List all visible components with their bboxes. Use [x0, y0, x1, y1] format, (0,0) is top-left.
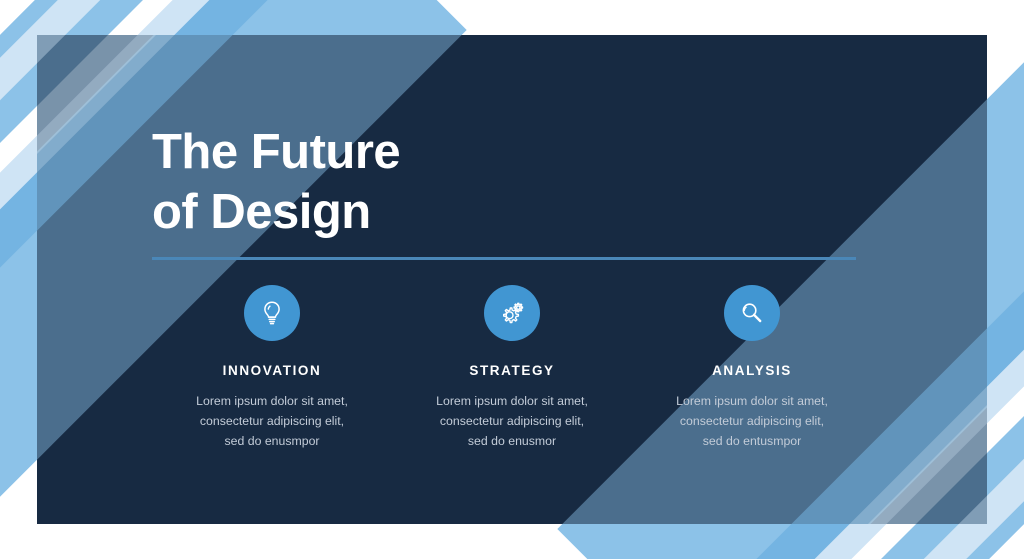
feature-column-analysis[interactable]: ANALYSIS Lorem ipsum dolor sit amet, con… — [632, 285, 872, 452]
feature-title: INNOVATION — [152, 363, 392, 378]
feature-column-innovation[interactable]: INNOVATION Lorem ipsum dolor sit amet, c… — [152, 285, 392, 452]
feature-body: Lorem ipsum dolor sit amet, consectetur … — [152, 392, 392, 452]
gears-icon — [497, 298, 527, 328]
magnifier-icon — [737, 298, 767, 328]
title-divider — [152, 257, 856, 260]
slide-title: The Future of Design — [152, 123, 400, 243]
gears-icon-badge[interactable] — [484, 285, 540, 341]
feature-column-strategy[interactable]: STRATEGY Lorem ipsum dolor sit amet, con… — [392, 285, 632, 452]
feature-body: Lorem ipsum dolor sit amet, consectetur … — [392, 392, 632, 452]
feature-columns: INNOVATION Lorem ipsum dolor sit amet, c… — [152, 285, 872, 452]
lightbulb-icon — [257, 298, 287, 328]
magnifier-icon-badge[interactable] — [724, 285, 780, 341]
presentation-slide: The Future of Design — [0, 0, 1024, 559]
lightbulb-icon-badge[interactable] — [244, 285, 300, 341]
content-panel: The Future of Design — [37, 35, 987, 524]
feature-body: Lorem ipsum dolor sit amet, consectetur … — [632, 392, 872, 452]
feature-title: STRATEGY — [392, 363, 632, 378]
feature-title: ANALYSIS — [632, 363, 872, 378]
